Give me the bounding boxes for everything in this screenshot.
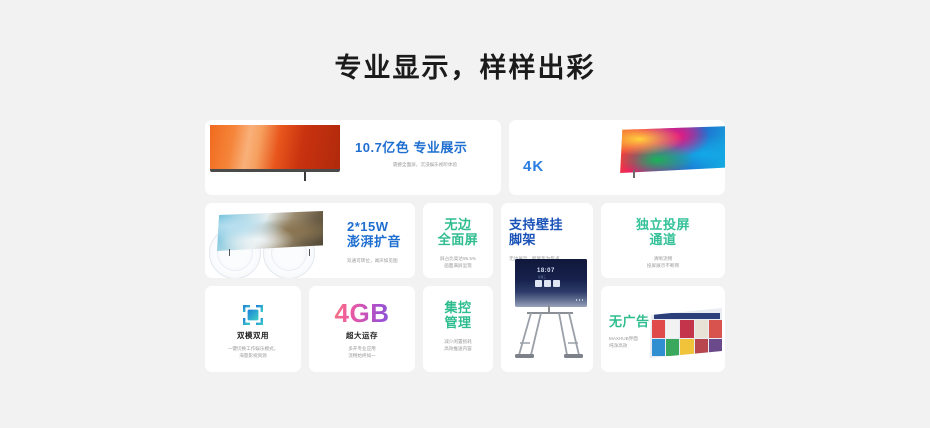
card-text-block: 支持壁挂 脚架 无边展示，所到皆为焦点 <box>509 217 593 263</box>
card-dual-mode[interactable]: 双模双用 一键切换工作娱乐模式， 海量影视资源 <box>205 286 301 372</box>
card-headline: 支持壁挂 脚架 <box>509 217 593 248</box>
tv-rainbow-gradient-image <box>619 126 725 182</box>
kiosk-dot <box>579 299 581 301</box>
card-text-block: 双模双用 一键切换工作娱乐模式， 海量影视资源 <box>205 332 301 360</box>
kiosk-dot <box>582 299 584 301</box>
kiosk-app-tiles <box>535 280 560 287</box>
ui-tile <box>666 320 679 338</box>
card-memory[interactable]: 4GB 超大运存 多开专业应用 流畅始终如一 <box>309 286 415 372</box>
ui-tile <box>652 320 665 338</box>
kiosk-dot <box>576 299 578 301</box>
kiosk-on-stand-image: 18:07 星期三 <box>511 259 587 369</box>
ui-tile <box>695 320 708 338</box>
memory-size-label: 4GB <box>309 298 415 329</box>
card-no-ads[interactable]: 无广告 MAXHUB界面 纯净高效 <box>601 286 725 372</box>
kiosk-tile <box>544 280 551 287</box>
card-wall-mount-stand[interactable]: 支持壁挂 脚架 无边展示，所到皆为焦点 18:07 星期三 <box>501 203 593 372</box>
ui-tile <box>695 339 708 357</box>
card-independent-cast[interactable]: 独立投屏 通道 清晰流畅 投屏展示不断网 <box>601 203 725 278</box>
tv-screen <box>619 126 725 173</box>
card-text-block: 无边 全面屏 屏占比高达95.5% 画面满屏呈现 <box>423 217 493 269</box>
ui-tile <box>680 339 693 357</box>
card-subtitle: 减少闲置损耗 高效推送内容 <box>423 339 493 353</box>
tv-leg-left <box>229 249 230 256</box>
card-text-block: 4K HDR 文本展示细腻，图像还原真实 <box>523 140 631 195</box>
ui-tile <box>709 320 722 338</box>
card-subtitle: 震撼全面屏，沉浸娱乐视听体验 <box>355 162 495 169</box>
card-text-block: 超大运存 多开专业应用 流畅始终如一 <box>309 332 415 360</box>
maxhub-ui-screen-image <box>648 308 722 358</box>
tv-leg-right <box>309 249 310 256</box>
card-subtitle: 一键切换工作娱乐模式， 海量影视资源 <box>205 346 301 360</box>
tv-orange-gradient-image <box>210 125 340 179</box>
card-4k-hdr[interactable]: 4K HDR 文本展示细腻，图像还原真实 <box>509 120 725 195</box>
dual-mode-icon <box>241 303 265 327</box>
card-headline: 2*15W 澎湃扩音 <box>347 219 413 250</box>
tv-bezel <box>210 169 340 172</box>
ui-tile <box>652 339 665 357</box>
card-headline: 4K HDR <box>523 140 631 195</box>
headline-hdr: HDR <box>523 193 559 195</box>
kiosk-clock-subtext: 星期三 <box>538 275 546 279</box>
card-text-block: 独立投屏 通道 清晰流畅 投屏展示不断网 <box>601 217 725 269</box>
kiosk-tile <box>535 280 542 287</box>
speaker-soundwave-image <box>207 209 335 273</box>
headline-4k: 4K <box>523 158 544 175</box>
ui-top-bar <box>654 313 720 319</box>
card-text-block: 集控 管理 减少闲置损耗 高效推送内容 <box>423 300 493 352</box>
feature-card-grid: 10.7亿色 专业展示 震撼全面屏，沉浸娱乐视听体验 4K HDR 文本展示细腻… <box>205 120 725 372</box>
card-subtitle: 屏占比高达95.5% 画面满屏呈现 <box>423 256 493 270</box>
card-subtitle: 双通可转位，闻声如见图 <box>347 258 413 265</box>
card-headline: 超大运存 <box>309 332 415 341</box>
card-subtitle: 清晰流畅 投屏展示不断网 <box>601 256 725 270</box>
ui-tile <box>709 339 722 357</box>
ui-tile <box>680 320 693 338</box>
kiosk-stand-frame <box>511 305 587 367</box>
kiosk-tile <box>553 280 560 287</box>
card-central-management[interactable]: 集控 管理 减少闲置损耗 高效推送内容 <box>423 286 493 372</box>
card-text-block: 10.7亿色 专业展示 震撼全面屏，沉浸娱乐视听体验 <box>355 140 495 169</box>
card-headline: 10.7亿色 专业展示 <box>355 140 495 155</box>
page-title: 专业显示，样样出彩 <box>0 46 930 85</box>
card-subtitle: 多开专业应用 流畅始终如一 <box>309 346 415 360</box>
card-headline: 无边 全面屏 <box>423 217 493 248</box>
card-color-display[interactable]: 10.7亿色 专业展示 震撼全面屏，沉浸娱乐视听体验 <box>205 120 501 195</box>
kiosk-clock: 18:07 <box>537 268 555 274</box>
promo-page: 专业显示，样样出彩 10.7亿色 专业展示 震撼全面屏，沉浸娱乐视听体验 4K … <box>0 0 930 428</box>
card-bezel-less[interactable]: 无边 全面屏 屏占比高达95.5% 画面满屏呈现 <box>423 203 493 278</box>
card-speakers[interactable]: 2*15W 澎湃扩音 双通可转位，闻声如见图 <box>205 203 415 278</box>
kiosk-indicator-dots <box>576 299 584 301</box>
card-headline: 双模双用 <box>205 332 301 341</box>
card-headline: 集控 管理 <box>423 300 493 331</box>
tv-coastline-screen <box>217 211 323 251</box>
ui-tile <box>666 339 679 357</box>
tv-screen <box>210 125 340 169</box>
card-headline: 独立投屏 通道 <box>601 217 725 248</box>
tv-stand <box>304 172 306 181</box>
card-text-block: 2*15W 澎湃扩音 双通可转位，闻声如见图 <box>347 219 413 265</box>
tv-stand <box>633 170 635 178</box>
ui-content-tiles <box>652 320 722 356</box>
